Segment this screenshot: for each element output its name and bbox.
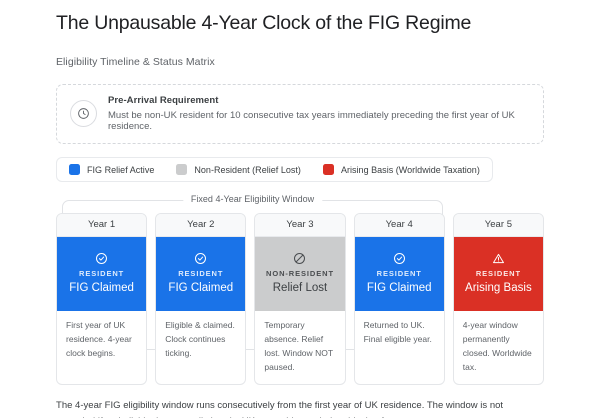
card-year-label: Year 3 (255, 214, 344, 237)
card-year-label: Year 2 (156, 214, 245, 237)
card-status-label: RESIDENT (79, 269, 124, 278)
card-value-label: FIG Claimed (69, 282, 134, 294)
prohibition-icon (293, 252, 306, 265)
page-subtitle: Eligibility Timeline & Status Matrix (56, 56, 544, 68)
card-status-body: RESIDENT FIG Claimed (156, 237, 245, 311)
check-circle-icon (393, 252, 406, 265)
card-value-label: Arising Basis (465, 282, 532, 294)
legend: FIG Relief Active Non-Resident (Relief L… (56, 157, 493, 182)
card-status-label: NON-RESIDENT (266, 269, 334, 278)
legend-swatch-gray (176, 164, 187, 175)
pre-arrival-callout: Pre-Arrival Requirement Must be non-UK r… (56, 84, 544, 144)
page-title: The Unpausable 4-Year Clock of the FIG R… (56, 0, 544, 36)
warning-triangle-icon (492, 252, 505, 265)
timeline-card-year-1: Year 1 RESIDENT FIG Claimed First year o… (56, 213, 147, 385)
card-status-body: NON-RESIDENT Relief Lost (255, 237, 344, 311)
card-description: Eligible & claimed. Clock continues tick… (156, 311, 245, 384)
timeline-card-year-3: Year 3 NON-RESIDENT Relief Lost Temporar… (254, 213, 345, 385)
timeline: Fixed 4-Year Eligibility Window Year 1 R… (56, 200, 544, 385)
check-circle-icon (194, 252, 207, 265)
card-year-label: Year 4 (355, 214, 444, 237)
card-status-label: RESIDENT (476, 269, 521, 278)
legend-label: FIG Relief Active (87, 165, 154, 175)
infographic-page: The Unpausable 4-Year Clock of the FIG R… (0, 0, 600, 418)
card-description: Temporary absence. Relief lost. Window N… (255, 311, 344, 384)
timeline-card-year-4: Year 4 RESIDENT FIG Claimed Returned to … (354, 213, 445, 385)
card-status-body: RESIDENT Arising Basis (454, 237, 543, 311)
card-value-label: Relief Lost (273, 282, 328, 294)
timeline-cards: Year 1 RESIDENT FIG Claimed First year o… (56, 200, 544, 385)
callout-text: Must be non-UK resident for 10 consecuti… (108, 110, 529, 132)
card-value-label: FIG Claimed (168, 282, 233, 294)
card-year-label: Year 5 (454, 214, 543, 237)
check-circle-icon (95, 252, 108, 265)
footer-note: The 4-year FIG eligibility window runs c… (56, 398, 544, 418)
timeline-card-year-2: Year 2 RESIDENT FIG Claimed Eligible & c… (155, 213, 246, 385)
legend-label: Arising Basis (Worldwide Taxation) (341, 165, 480, 175)
card-status-body: RESIDENT FIG Claimed (355, 237, 444, 311)
card-year-label: Year 1 (57, 214, 146, 237)
card-status-body: RESIDENT FIG Claimed (57, 237, 146, 311)
legend-item-non-resident: Non-Resident (Relief Lost) (176, 164, 301, 175)
timeline-card-year-5: Year 5 RESIDENT Arising Basis 4-year win… (453, 213, 544, 385)
card-status-label: RESIDENT (178, 269, 223, 278)
legend-item-arising-basis: Arising Basis (Worldwide Taxation) (323, 164, 480, 175)
card-description: 4-year window permanently closed. Worldw… (454, 311, 543, 384)
legend-swatch-red (323, 164, 334, 175)
card-value-label: FIG Claimed (367, 282, 432, 294)
card-status-label: RESIDENT (377, 269, 422, 278)
card-description: Returned to UK. Final eligible year. (355, 311, 444, 384)
legend-label: Non-Resident (Relief Lost) (194, 165, 301, 175)
legend-swatch-blue (69, 164, 80, 175)
legend-item-fig-relief-active: FIG Relief Active (69, 164, 154, 175)
clock-icon (70, 100, 97, 127)
callout-title: Pre-Arrival Requirement (108, 95, 529, 106)
card-description: First year of UK residence. 4-year clock… (57, 311, 146, 384)
